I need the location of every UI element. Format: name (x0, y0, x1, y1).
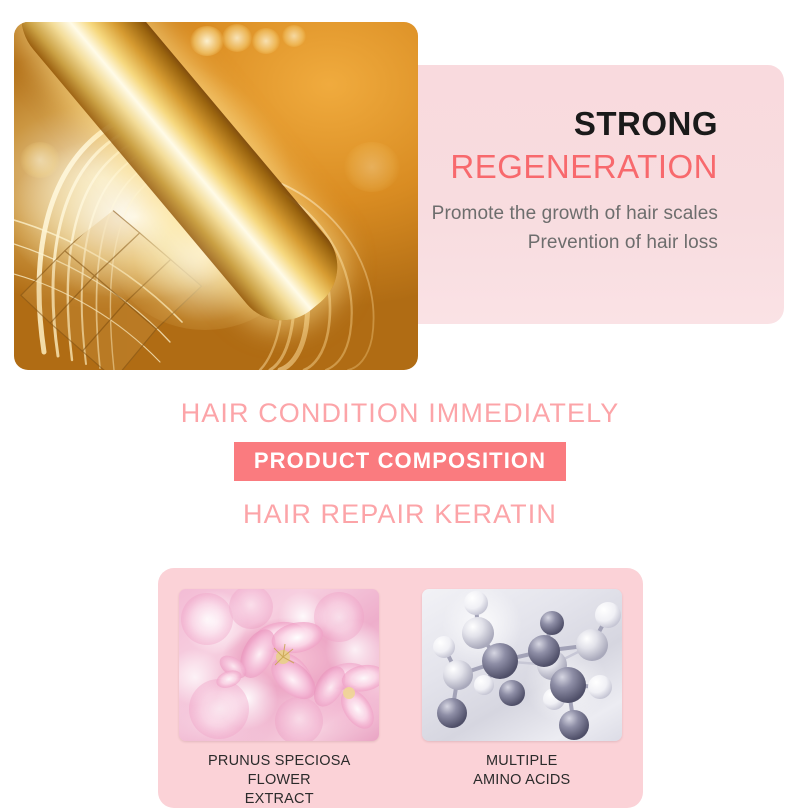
bokeh-highlight-icon (252, 28, 280, 54)
bokeh-highlight-icon (20, 142, 60, 178)
bokeh-highlight-icon (222, 24, 252, 52)
product-composition-section: HAIR CONDITION IMMEDIATELY PRODUCT COMPO… (0, 398, 800, 530)
heading-hair-repair-keratin: HAIR REPAIR KERATIN (0, 499, 800, 530)
heading-hair-condition: HAIR CONDITION IMMEDIATELY (0, 398, 800, 429)
ingredient-caption-flower: PRUNUS SPECIOSA FLOWER EXTRACT (175, 752, 383, 809)
molecule-structure-image (422, 589, 622, 741)
claim-subtitle-hairloss: Prevention of hair loss (432, 228, 718, 257)
hair-strand-shaft (14, 22, 356, 339)
bokeh-highlight-icon (344, 142, 400, 192)
bokeh-highlight-icon (282, 25, 306, 47)
product-composition-banner: PRODUCT COMPOSITION (234, 442, 566, 481)
bokeh-highlight-icon (190, 26, 224, 56)
claim-text-block: STRONG REGENERATION Promote the growth o… (432, 105, 718, 258)
ingredient-caption-molecule: MULTIPLE AMINO ACIDS (473, 752, 570, 790)
claim-title-regeneration: REGENERATION (432, 146, 718, 189)
ingredient-card-flower: PRUNUS SPECIOSA FLOWER EXTRACT (175, 589, 383, 809)
hero-hair-energy-image (14, 22, 418, 370)
cherry-blossom-flower-image (179, 589, 379, 741)
claim-subtitle-growth: Promote the growth of hair scales (432, 199, 718, 228)
ingredients-row: PRUNUS SPECIOSA FLOWER EXTRACT (158, 568, 643, 808)
ingredient-card-molecule: MULTIPLE AMINO ACIDS (418, 589, 626, 790)
claim-title-strong: STRONG (432, 105, 718, 144)
